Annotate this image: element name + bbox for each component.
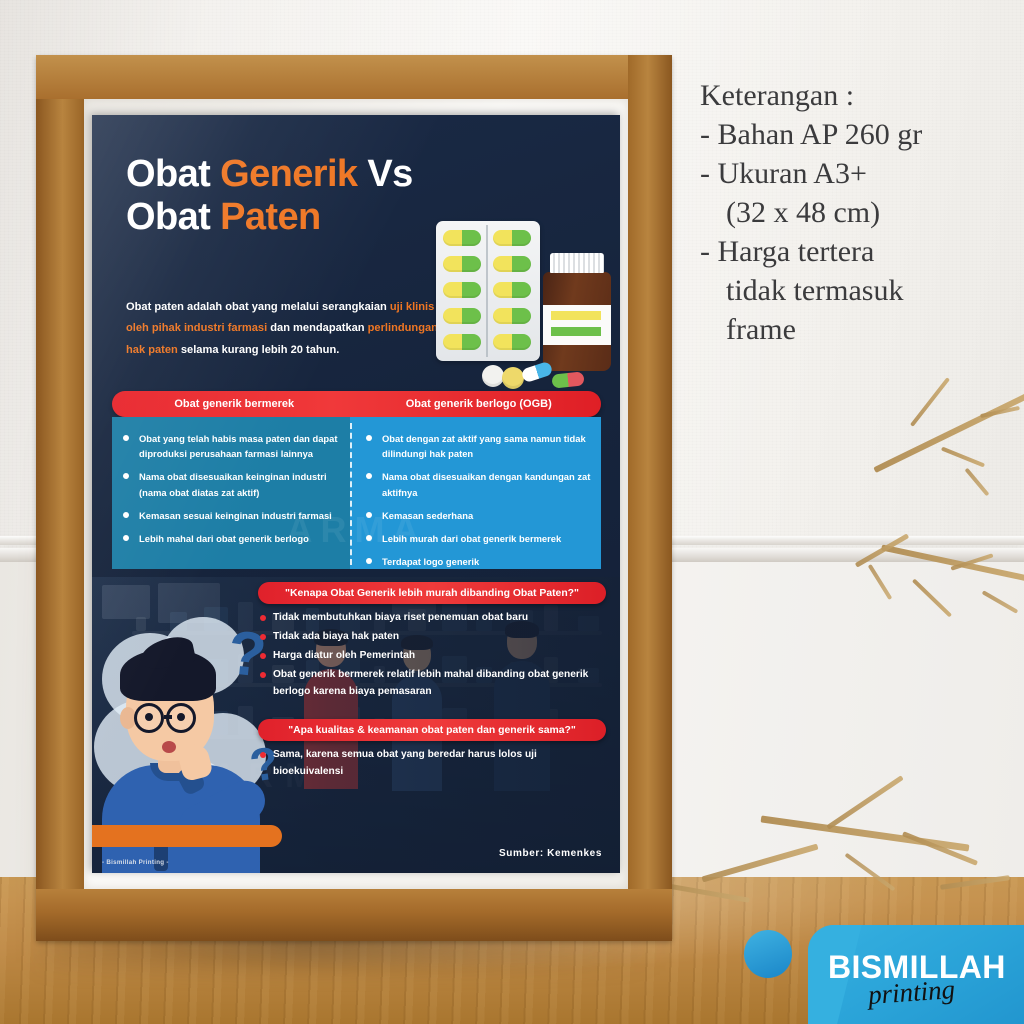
poster-footer-orange-bar [92,825,282,847]
capsule-icon [493,230,531,246]
capsule-icon [443,282,481,298]
qa-question-1: "Kenapa Obat Generik lebih murah dibandi… [258,582,606,604]
brand-tagline: printing [867,974,956,1011]
title-word-paten: Paten [220,196,320,238]
qa-answer-item: Tidak membutuhkan biaya riset penemuan o… [258,610,606,627]
frame-edge-right [628,55,672,941]
qa-answer-item: Tidak ada biaya hak paten [258,629,606,646]
poster-intro-paragraph: Obat paten adalah obat yang melalui sera… [126,297,438,361]
comparison-divider [350,423,352,565]
title-word-vs: Vs [357,153,412,195]
comparison-header-bar: Obat generik bermerek Obat generik berlo… [112,391,601,417]
note-line-3: (32 x 48 cm) [700,193,1010,232]
comparison-header-left: Obat generik bermerek [112,398,357,410]
brand-logo-badge[interactable]: BISMILLAH printing [808,925,1024,1024]
capsule-icon [493,256,531,272]
comparison-right-list: Obat dengan zat aktif yang sama namun ti… [366,431,591,570]
man-eye [177,713,185,721]
note-line-2: - Ukuran A3+ [700,154,1010,193]
title-word-obat-2: Obat [126,196,220,238]
capsule-icon [493,308,531,324]
tablet-icon [502,367,524,389]
poster-credit: - Bismillah Printing - [102,859,169,866]
comparison-left-item: Obat yang telah habis masa paten dan dap… [123,431,340,461]
qa-answer-item: Obat generik bermerek relatif lebih maha… [258,667,606,701]
comparison-right-item: Lebih murah dari obat generik bermerek [366,531,591,546]
note-line-5: tidak termasuk [700,271,1010,310]
blister-pack-icon [436,221,540,361]
intro-text-3: selama kurang lebih 20 tahun. [178,344,340,356]
poster-source: Sumber: Kemenkes [499,848,602,859]
comparison-right-item: Kemasan sederhana [366,508,591,523]
capsule-icon [493,282,531,298]
comparison-left-item: Lebih mahal dari obat generik berlogo [123,531,340,546]
comparison-panel-left: Obat yang telah habis masa paten dan dap… [112,417,350,569]
qa-block-1: "Kenapa Obat Generik lebih murah dibandi… [258,582,606,703]
comparison-left-item: Nama obat disesuaikan keinginan industri… [123,469,340,499]
intro-text-1: Obat paten adalah obat yang melalui sera… [126,301,390,313]
qa-block-2: "Apa kualitas & keamanan obat paten dan … [258,719,606,783]
handwritten-spec-note: Keterangan :- Bahan AP 260 gr- Ukuran A3… [700,76,1010,349]
comparison-right-item: Terdapat logo generik [366,554,591,569]
qa-answers-2: Sama, karena semua obat yang beredar har… [258,747,606,781]
comparison-left-item: Kemasan sesuai keinginan industri farmas… [123,508,340,523]
capsule-icon [551,371,584,388]
note-line-1: - Bahan AP 260 gr [700,115,1010,154]
note-line-0: Keterangan : [700,76,1010,115]
capsule-icon [493,334,531,350]
capsule-icon [443,334,481,350]
medicine-bottle-icon [541,253,613,371]
bottle-label [543,305,611,345]
comparison-panels: Obat yang telah habis masa paten dan dap… [112,417,601,569]
comparison-left-list: Obat yang telah habis masa paten dan dap… [123,431,340,546]
poster-artwork: Obat Generik Vs Obat Paten Obat paten ad… [92,115,620,873]
frame-edge-left [36,55,84,941]
note-line-6: frame [700,310,1010,349]
label-bar-yellow [551,311,601,320]
capsule-icon [443,308,481,324]
bottle-cap [550,253,604,273]
frame-edge-bottom [36,889,672,941]
qa-answers-1: Tidak membutuhkan biaya riset penemuan o… [258,610,606,701]
label-bar-green [551,327,601,336]
tablet-icon [482,365,504,387]
man-mouth [162,741,176,753]
man-eye [145,713,153,721]
title-word-generik: Generik [220,153,357,195]
frame-edge-top [36,55,672,99]
capsule-icon [443,230,481,246]
note-line-4: - Harga tertera [700,232,1010,271]
title-line-1: Obat Generik Vs [126,153,526,196]
comparison-panel-right: Obat dengan zat aktif yang sama namun ti… [350,417,601,569]
capsule-icon [443,256,481,272]
glasses-bridge [164,715,172,719]
comparison-right-item: Nama obat disesuaikan dengan kandungan z… [366,469,591,499]
qa-answer-item: Harga diatur oleh Pemerintah [258,648,606,665]
title-word-obat-1: Obat [126,153,220,195]
qa-question-2: "Apa kualitas & keamanan obat paten dan … [258,719,606,741]
qa-answer-item: Sama, karena semua obat yang beredar har… [258,747,606,781]
comparison-header-right: Obat generik berlogo (OGB) [357,398,602,410]
man-forearm [110,845,260,871]
medicine-illustration [430,215,615,395]
picture-frame: Obat Generik Vs Obat Paten Obat paten ad… [36,55,672,941]
capsule-icon [521,361,554,384]
logo-circle-accent [744,930,792,978]
intro-text-2: dan mendapatkan [267,322,367,334]
comparison-right-item: Obat dengan zat aktif yang sama namun ti… [366,431,591,461]
man-watch [154,843,168,871]
